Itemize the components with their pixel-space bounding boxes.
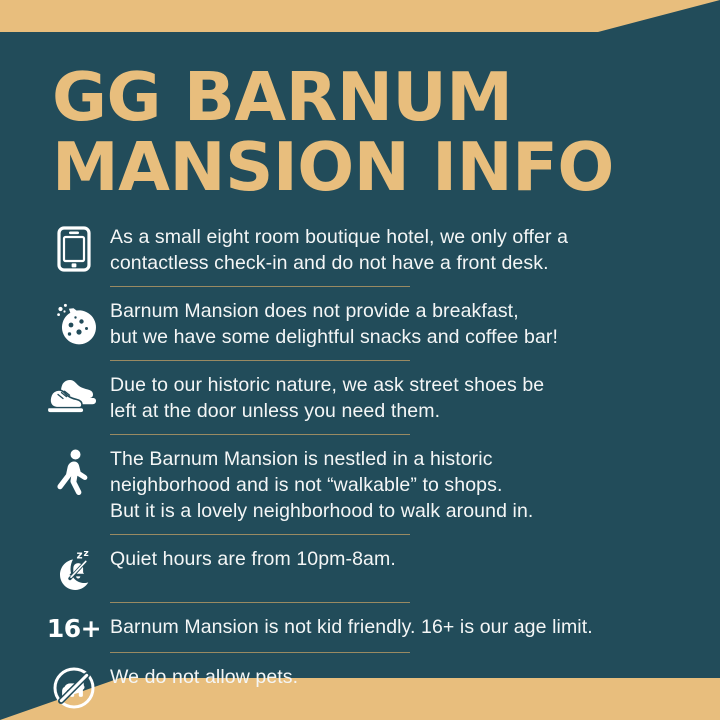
info-row-walkability: The Barnum Mansion is nestled in a histo… xyxy=(0,444,720,526)
info-row-text: We do not allow pets. xyxy=(110,662,700,690)
info-row-text: Due to our historic nature, we ask stree… xyxy=(110,370,700,424)
page-title: GG BARNUM MANSION INFO xyxy=(52,62,672,202)
info-row-text: Barnum Mansion is not kid friendly. 16+ … xyxy=(110,612,700,640)
row-divider xyxy=(110,652,410,653)
info-row-quiet-hours: z z Quiet hours are from 10pm-8am. xyxy=(0,544,720,594)
info-row-no-pets: We do not allow pets. xyxy=(0,662,720,710)
title-line-2: MANSION INFO xyxy=(52,132,672,202)
moon-mute-zzz-icon: z z xyxy=(38,544,110,594)
info-row-street-shoes: Due to our historic nature, we ask stree… xyxy=(0,370,720,426)
row-divider xyxy=(110,602,410,603)
info-row-breakfast: Barnum Mansion does not provide a breakf… xyxy=(0,296,720,352)
info-row-age-limit: 16+ Barnum Mansion is not kid friendly. … xyxy=(0,612,720,644)
top-accent-banner xyxy=(0,0,720,32)
info-row-text: As a small eight room boutique hotel, we… xyxy=(110,222,700,276)
info-list: As a small eight room boutique hotel, we… xyxy=(0,222,720,710)
sneakers-icon xyxy=(38,370,110,414)
row-divider xyxy=(110,286,410,287)
walking-person-icon xyxy=(38,444,110,498)
row-divider xyxy=(110,434,410,435)
svg-text:z: z xyxy=(77,550,83,562)
info-row-contactless-checkin: As a small eight room boutique hotel, we… xyxy=(0,222,720,278)
info-poster: GG BARNUM MANSION INFO As a small eight … xyxy=(0,0,720,720)
info-row-text: Quiet hours are from 10pm-8am. xyxy=(110,544,700,572)
title-line-1: GG BARNUM xyxy=(52,62,672,132)
row-divider xyxy=(110,534,410,535)
smartphone-icon xyxy=(38,222,110,272)
cookie-icon xyxy=(38,296,110,346)
info-row-text: Barnum Mansion does not provide a breakf… xyxy=(110,296,700,350)
info-row-text: The Barnum Mansion is nestled in a histo… xyxy=(110,444,700,524)
row-divider xyxy=(110,360,410,361)
age-badge-label: 16+ xyxy=(47,616,101,641)
svg-text:z: z xyxy=(84,549,89,559)
no-pets-icon xyxy=(38,662,110,710)
age-16-plus-badge: 16+ xyxy=(38,612,110,641)
